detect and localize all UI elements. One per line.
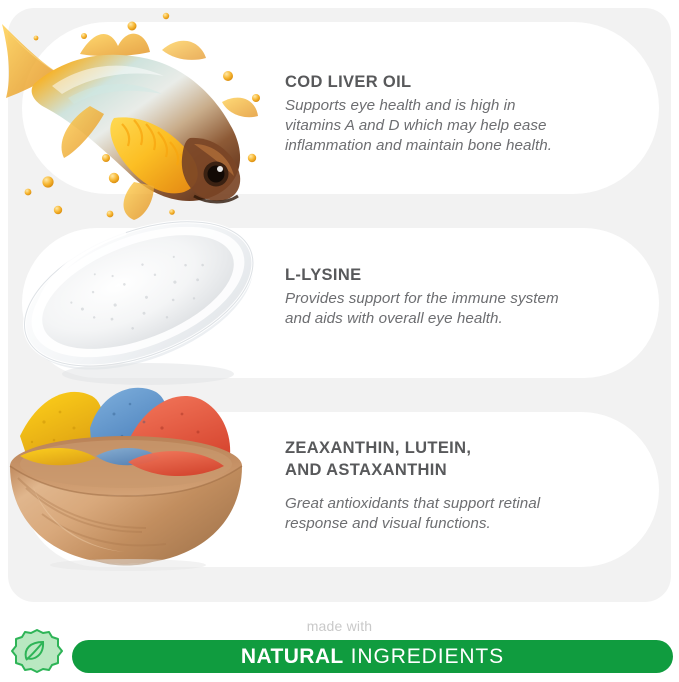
card-text-cod-liver-oil: COD LIVER OIL Supports eye health and is… — [285, 72, 639, 156]
card-body-l-lysine: Provides support for the immune system a… — [285, 289, 639, 329]
card-body-line: inflammation and maintain bone health. — [285, 136, 639, 156]
card-title-cod-liver-oil: COD LIVER OIL — [285, 72, 639, 94]
card-body-line: Great antioxidants that support retinal — [285, 494, 639, 514]
card-title-l-lysine: L-LYSINE — [285, 265, 639, 287]
card-title-carotenoids: ZEAXANTHIN, LUTEIN, AND ASTAXANTHIN — [285, 438, 639, 482]
carotenoid-powder-bowl-image — [0, 382, 268, 572]
ingredients-label: INGREDIENTS — [351, 645, 504, 669]
card-title-line: ZEAXANTHIN, LUTEIN, — [285, 438, 639, 460]
card-body-line: Supports eye health and is high in — [285, 96, 639, 116]
natural-ingredients-banner: NATURAL INGREDIENTS — [72, 640, 673, 673]
card-body-carotenoids: Great antioxidants that support retinal … — [285, 494, 639, 534]
cod-liver-oil-fish-image — [0, 6, 274, 226]
made-with-label: made with — [0, 618, 679, 634]
l-lysine-powder-dish-image — [8, 196, 268, 392]
natural-label: NATURAL — [241, 645, 344, 669]
leaf-badge-icon — [10, 627, 64, 679]
infographic-root: COD LIVER OIL Supports eye health and is… — [0, 0, 679, 682]
card-body-cod-liver-oil: Supports eye health and is high in vitam… — [285, 96, 639, 157]
card-body-line: vitamins A and D which may help ease — [285, 116, 639, 136]
card-title-line: AND ASTAXANTHIN — [285, 460, 639, 482]
card-body-line: and aids with overall eye health. — [285, 309, 639, 329]
card-body-line: Provides support for the immune system — [285, 289, 639, 309]
card-text-l-lysine: L-LYSINE Provides support for the immune… — [285, 265, 639, 329]
card-body-line: response and visual functions. — [285, 514, 639, 534]
card-text-carotenoids: ZEAXANTHIN, LUTEIN, AND ASTAXANTHIN Grea… — [285, 438, 639, 534]
